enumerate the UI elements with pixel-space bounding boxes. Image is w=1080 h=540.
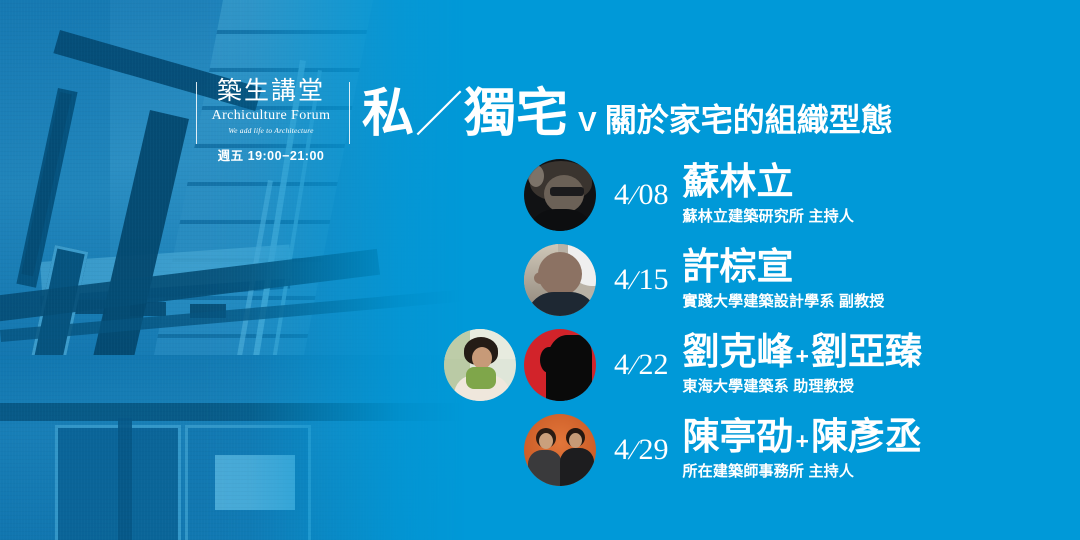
title-numeral: V	[578, 108, 597, 136]
speaker-row: 4 / 15 許棕宣 實踐大學建築設計學系 副教授	[0, 237, 1080, 322]
date-day: 08	[639, 180, 669, 210]
logo-divider-right	[349, 82, 350, 144]
name-plus-separator: +	[796, 430, 809, 454]
avatar-group	[444, 329, 596, 401]
date-day: 15	[639, 265, 669, 295]
logo-tagline: We add life to Architecture	[196, 126, 346, 135]
avatar-group	[524, 414, 596, 486]
title-slash: ／	[415, 92, 463, 140]
speaker-list: 4 / 08 蘇林立 蘇林立建築研究所 主持人	[0, 152, 1080, 492]
event-date: 4 / 15	[614, 265, 669, 295]
speaker-affiliation: 東海大學建築系 助理教授	[683, 375, 922, 396]
avatar	[524, 159, 596, 231]
speaker-name-text: 許棕宣	[683, 248, 794, 286]
logo-name-english: Archiculture Forum	[196, 108, 346, 124]
speaker-name-text: 蘇林立	[683, 163, 794, 201]
event-poster: 築生講堂 Archiculture Forum We add life to A…	[0, 0, 1080, 540]
speaker-name: 陳亭劭 + 陳彥丞	[683, 418, 922, 456]
speaker-name: 劉克峰 + 劉亞臻	[683, 333, 922, 371]
speaker-name-text-a: 陳亭劭	[683, 418, 794, 456]
page-title: 私 ／ 獨宅 V 關於家宅的組織型態	[362, 88, 893, 140]
event-date: 4 / 08	[614, 180, 669, 210]
date-day: 29	[639, 435, 669, 465]
logo-name-chinese: 築生講堂	[196, 78, 346, 105]
speaker-row: 4 / 08 蘇林立 蘇林立建築研究所 主持人	[0, 152, 1080, 237]
speaker-name-text-b: 劉亞臻	[811, 333, 922, 371]
speaker-affiliation: 蘇林立建築研究所 主持人	[683, 205, 855, 226]
speaker-row: 4 / 22 劉克峰 + 劉亞臻 東海大學建築系 助理教授	[0, 322, 1080, 407]
speaker-name: 蘇林立	[683, 163, 855, 201]
speaker-name-text-b: 陳彥丞	[811, 418, 922, 456]
date-day: 22	[639, 350, 669, 380]
avatar	[524, 414, 596, 486]
logo-divider-left	[196, 82, 197, 144]
speaker-affiliation: 所在建築師事務所 主持人	[683, 460, 922, 481]
title-part-2: 獨宅	[464, 88, 568, 140]
avatar	[524, 244, 596, 316]
event-date: 4 / 29	[614, 435, 669, 465]
title-subtitle: 關於家宅的組織型態	[605, 104, 893, 136]
speaker-name-text-a: 劉克峰	[683, 333, 794, 371]
title-part-1: 私	[362, 88, 414, 140]
avatar-group	[524, 159, 596, 231]
name-plus-separator: +	[796, 345, 809, 369]
avatar	[444, 329, 516, 401]
avatar-group	[524, 244, 596, 316]
speaker-name: 許棕宣	[683, 248, 885, 286]
speaker-affiliation: 實踐大學建築設計學系 副教授	[683, 290, 885, 311]
event-date: 4 / 22	[614, 350, 669, 380]
avatar	[524, 329, 596, 401]
speaker-row: 4 / 29 陳亭劭 + 陳彥丞 所在建築師事務所 主持人	[0, 407, 1080, 492]
